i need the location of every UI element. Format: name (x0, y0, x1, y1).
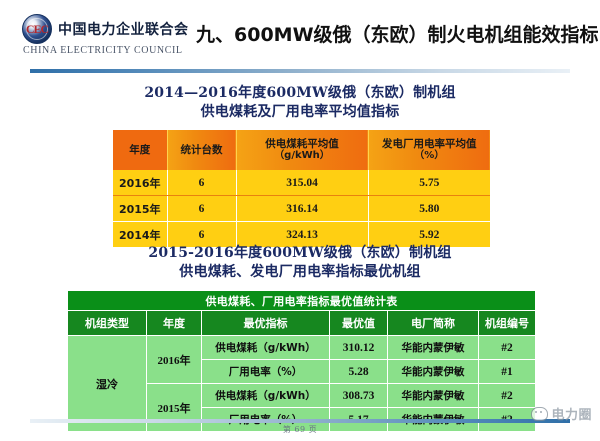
average-indicators-table: 年度 统计台数 供电煤耗平均值 （g/kWh） 发电厂用电率平均值 （%） 20… (113, 130, 490, 247)
cell-plant: 华能内蒙伊敏 (388, 336, 479, 360)
wechat-icon (531, 407, 548, 421)
page-number: 第 69 页 (0, 424, 600, 435)
watermark-label: 电力圈 (551, 404, 592, 423)
col-header-coal-label: 供电煤耗平均值 (265, 138, 339, 150)
col-header-year: 年度 (147, 311, 202, 336)
col-header-unit-no: 机组编号 (479, 311, 536, 336)
cell-metric: 厂用电率（%） (202, 360, 330, 384)
col-header-metric: 最优指标 (202, 311, 330, 336)
cell-unit-no: #2 (479, 336, 536, 360)
cell-metric: 供电煤耗（g/kWh） (202, 384, 330, 408)
section1-heading: 2014—2016年度600MW级俄（东欧）制机组 供电煤耗及厂用电率平均值指标 (0, 84, 600, 122)
organization-logo: CEC 中国电力企业联合会 CHINA ELECTRICITY COUNCIL (22, 14, 189, 56)
col-header-count: 统计台数 (167, 130, 236, 170)
cell-count: 6 (167, 196, 236, 222)
table-caption-row: 供电煤耗、厂用电率指标最优值统计表 (68, 291, 536, 311)
table-row: 湿冷 2016年 供电煤耗（g/kWh） 310.12 华能内蒙伊敏 #2 (68, 336, 536, 360)
col-header-rate-unit: （%） (370, 150, 490, 162)
cell-unit-type: 湿冷 (68, 336, 147, 432)
slide-title: 九、600MW级俄（东欧）制火电机组能效指标 (196, 20, 592, 47)
col-header-plant: 电厂简称 (388, 311, 479, 336)
col-header-year-label: 年度 (129, 144, 150, 156)
section2-heading-line2: 供电煤耗、发电厂用电率指标最优机组 (0, 263, 600, 282)
table-header-row: 年度 统计台数 供电煤耗平均值 （g/kWh） 发电厂用电率平均值 （%） (113, 130, 490, 170)
cell-value: 310.12 (330, 336, 388, 360)
cell-coal: 316.14 (236, 196, 368, 222)
col-header-count-label: 统计台数 (181, 144, 223, 156)
cell-count: 6 (167, 170, 236, 196)
col-header-year: 年度 (113, 130, 167, 170)
col-header-rate: 发电厂用电率平均值 （%） (368, 130, 490, 170)
cell-plant: 华能内蒙伊敏 (388, 360, 479, 384)
table-row: 2016年 6 315.04 5.75 (113, 170, 490, 196)
section1-heading-line1: 2014—2016年度600MW级俄（东欧）制机组 (0, 84, 600, 103)
col-header-unit-type: 机组类型 (68, 311, 147, 336)
logo-row: CEC 中国电力企业联合会 (22, 14, 189, 44)
cell-year: 2016年 (147, 336, 202, 384)
emblem-label: CEC (23, 23, 51, 35)
cell-unit-no: #1 (479, 360, 536, 384)
col-header-coal: 供电煤耗平均值 （g/kWh） (236, 130, 368, 170)
cec-emblem-icon: CEC (22, 14, 52, 44)
cell-rate: 5.80 (368, 196, 490, 222)
cell-value: 5.28 (330, 360, 388, 384)
cell-value: 308.73 (330, 384, 388, 408)
cell-coal: 315.04 (236, 170, 368, 196)
logo-chinese-name: 中国电力企业联合会 (58, 19, 189, 39)
table-caption: 供电煤耗、厂用电率指标最优值统计表 (68, 291, 536, 311)
slide-header: CEC 中国电力企业联合会 CHINA ELECTRICITY COUNCIL … (0, 0, 600, 74)
cell-plant: 华能内蒙伊敏 (388, 384, 479, 408)
cell-rate: 5.75 (368, 170, 490, 196)
col-header-rate-label: 发电厂用电率平均值 (382, 138, 477, 150)
section2-heading: 2015-2016年度600MW级俄（东欧）制机组 供电煤耗、发电厂用电率指标最… (0, 244, 600, 282)
cell-year: 2016年 (113, 170, 167, 196)
cell-year: 2015年 (113, 196, 167, 222)
table-header-row: 机组类型 年度 最优指标 最优值 电厂简称 机组编号 (68, 311, 536, 336)
watermark: 电力圈 (531, 404, 592, 423)
footer-divider (30, 419, 570, 423)
table-row: 2015年 6 316.14 5.80 (113, 196, 490, 222)
logo-english-name: CHINA ELECTRICITY COUNCIL (23, 45, 183, 56)
header-divider (30, 69, 570, 73)
best-indicators-table: 供电煤耗、厂用电率指标最优值统计表 机组类型 年度 最优指标 最优值 电厂简称 … (67, 290, 536, 432)
section2-heading-line1: 2015-2016年度600MW级俄（东欧）制机组 (0, 244, 600, 263)
cell-unit-no: #2 (479, 384, 536, 408)
cell-metric: 供电煤耗（g/kWh） (202, 336, 330, 360)
col-header-value: 最优值 (330, 311, 388, 336)
col-header-coal-unit: （g/kWh） (238, 150, 367, 162)
section1-heading-line2: 供电煤耗及厂用电率平均值指标 (0, 103, 600, 122)
